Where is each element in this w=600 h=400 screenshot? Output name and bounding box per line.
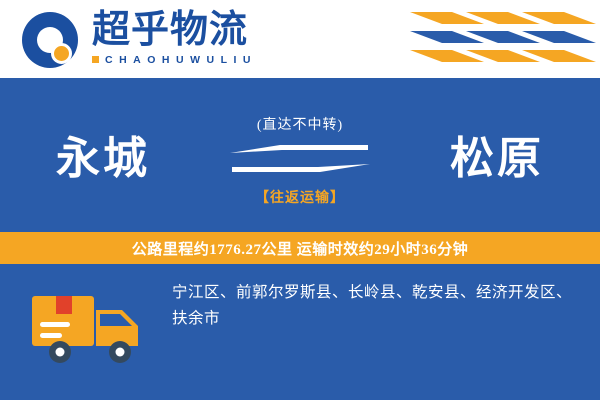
destination-city: 松原: [450, 122, 544, 186]
roundtrip-label: 【往返运输】: [210, 187, 390, 207]
double-arrow-icon: [230, 142, 370, 172]
distance-duration-strip: 公路里程约1776.27公里 运输时效约29小时36分钟: [0, 232, 600, 264]
direct-label: (直达不中转): [210, 114, 390, 134]
header: 超乎物流 CHAOHUWULIU: [0, 0, 600, 78]
delivery-truck-icon: [30, 282, 150, 372]
destination-section: 宁江区、前郭尔罗斯县、长岭县、乾安县、经济开发区、扶余市: [0, 264, 600, 400]
logistics-banner: 超乎物流 CHAOHUWULIU 永城 (直达不中转): [0, 0, 600, 400]
brand-name-en: CHAOHUWULIU: [105, 54, 257, 66]
route-section: 永城 (直达不中转) 【往返运输】 松原: [0, 78, 600, 230]
brand-text: 超乎物流 CHAOHUWULIU: [92, 8, 257, 66]
distance-duration-text: 公路里程约1776.27公里 运输时效约29小时36分钟: [132, 238, 469, 259]
chevron-stripes-icon: [410, 8, 600, 70]
brand-name-cn: 超乎物流: [92, 8, 257, 52]
route-arrow-group: (直达不中转) 【往返运输】: [210, 108, 390, 218]
brand-accent-bar: [92, 56, 99, 63]
origin-city: 永城: [56, 122, 150, 186]
destination-list: 宁江区、前郭尔罗斯县、长岭县、乾安县、经济开发区、扶余市: [172, 280, 572, 332]
circle-logo-icon: [22, 12, 78, 68]
